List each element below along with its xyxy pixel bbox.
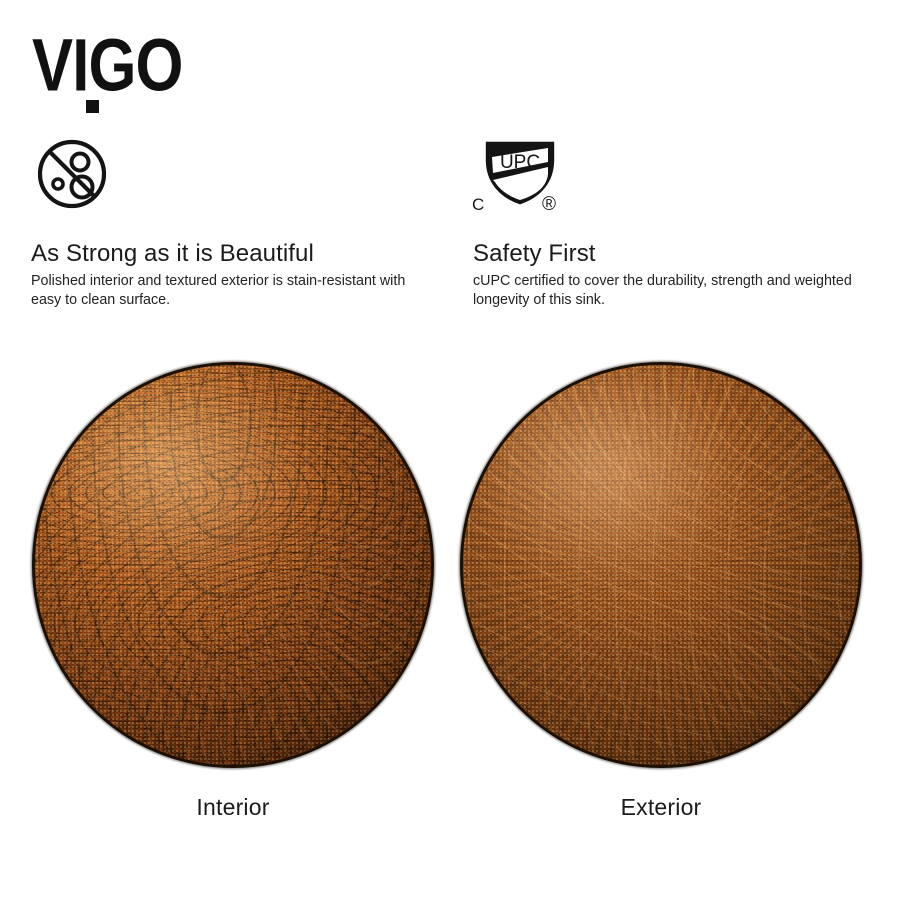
cupc-shield-label: UPC bbox=[500, 152, 540, 173]
logo-dot-icon bbox=[86, 100, 99, 113]
vigo-logo: VIGO bbox=[32, 28, 232, 118]
sample-caption-exterior: Exterior bbox=[463, 793, 859, 821]
cupc-mark-right: ® bbox=[542, 195, 556, 214]
sample-caption-interior: Interior bbox=[35, 793, 431, 821]
feature-title: Safety First bbox=[473, 240, 892, 268]
vigo-wordmark: VIGO bbox=[32, 28, 208, 102]
feature-title: As Strong as it is Beautiful bbox=[31, 240, 450, 268]
cupc-mark-left: C bbox=[472, 196, 484, 213]
feature-strong-beautiful: As Strong as it is Beautiful Polished in… bbox=[30, 138, 450, 309]
cupc-shield-icon: UPC C ® bbox=[472, 138, 582, 218]
product-feature-panel: VIGO As Strong as it is Beautiful Polish… bbox=[0, 0, 900, 900]
sample-interior: Interior bbox=[35, 365, 431, 821]
interior-texture-disc bbox=[35, 365, 431, 765]
sample-exterior: Exterior bbox=[463, 365, 859, 821]
feature-safety-first: UPC C ® Safety First cUPC certified to c… bbox=[472, 138, 892, 309]
feature-body: Polished interior and textured exterior … bbox=[31, 272, 431, 309]
exterior-texture-disc bbox=[463, 365, 859, 765]
feature-body: cUPC certified to cover the durability, … bbox=[473, 272, 873, 309]
stain-resistant-icon bbox=[30, 138, 150, 218]
